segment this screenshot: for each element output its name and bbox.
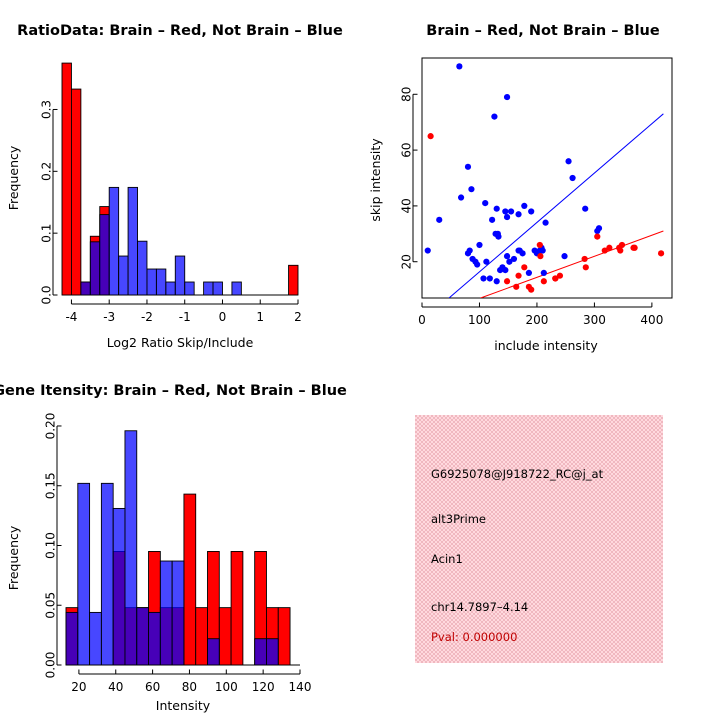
hist-bar xyxy=(175,256,184,295)
hist-bar xyxy=(100,215,109,295)
scatter-point xyxy=(528,287,534,293)
x-axis-tick-label: 100 xyxy=(215,680,238,694)
scatter-point xyxy=(521,264,527,270)
scatter-point xyxy=(494,206,500,212)
scatter-point xyxy=(617,247,623,253)
scatter-point xyxy=(658,250,664,256)
scatter-point xyxy=(542,220,548,226)
hist-bar xyxy=(289,265,298,295)
scatter-panel: Brain – Red, Not Brain – Blue include in… xyxy=(360,0,720,360)
hist-bar xyxy=(278,608,290,665)
y-axis-tick-label: 0.2 xyxy=(40,162,54,181)
hist-bar xyxy=(125,431,137,665)
y-axis-tick-label: 0.3 xyxy=(40,100,54,119)
scatter-point xyxy=(519,250,525,256)
scatter-point xyxy=(537,242,543,248)
scatter-point xyxy=(436,217,442,223)
x-axis-tick-label: -2 xyxy=(141,310,153,324)
gene-histogram-xlabel: Intensity xyxy=(156,698,211,713)
hist-bar xyxy=(184,494,196,665)
scatter-plot-area: 010020030040020406080 xyxy=(400,58,673,327)
y-axis-tick-label: 60 xyxy=(400,142,414,157)
y-axis-tick-label: 0.05 xyxy=(44,592,58,619)
x-axis-tick-label: 2 xyxy=(294,310,302,324)
hist-bar xyxy=(138,241,147,295)
gene-histogram-svg: Gene Itensity: Brain – Red, Not Brain – … xyxy=(0,360,360,720)
hist-bar xyxy=(166,282,175,295)
x-axis-tick-label: 200 xyxy=(525,313,548,327)
hist-bar xyxy=(231,551,243,665)
hist-bar xyxy=(213,282,222,295)
figure-canvas: RatioData: Brain – Red, Not Brain – Blue… xyxy=(0,0,720,720)
ratio-histogram-panel: RatioData: Brain – Red, Not Brain – Blue… xyxy=(0,0,360,360)
scatter-point xyxy=(491,114,497,120)
scatter-point xyxy=(561,253,567,259)
y-axis-tick-label: 0.10 xyxy=(44,532,58,559)
hist-bar xyxy=(204,282,213,295)
ratio-histogram-xlabel: Log2 Ratio Skip/Include xyxy=(107,335,254,350)
scatter-point xyxy=(504,278,510,284)
y-axis-tick-label: 0.0 xyxy=(40,285,54,304)
genomic-location-text: chr14.7897–4.14 xyxy=(431,600,528,614)
scatter-points-group xyxy=(425,63,665,298)
hist-bar xyxy=(128,187,137,295)
scatter-point xyxy=(515,273,521,279)
y-axis-tick-label: 0.20 xyxy=(44,413,58,440)
x-axis-tick-label: 300 xyxy=(583,313,606,327)
scatter-point xyxy=(495,234,501,240)
x-axis-tick-label: 20 xyxy=(71,680,86,694)
scatter-point xyxy=(458,194,464,200)
x-axis-tick-label: 100 xyxy=(468,313,491,327)
hist-bar xyxy=(156,269,165,295)
scatter-point xyxy=(537,253,543,259)
probe-id-text: G6925078@J918722_RC@j_at xyxy=(431,467,603,481)
scatter-point xyxy=(582,256,588,262)
scatter-point xyxy=(504,253,510,259)
scatter-point xyxy=(619,242,625,248)
scatter-point xyxy=(515,211,521,217)
y-axis-tick-label: 0.00 xyxy=(44,652,58,679)
event-type-text: alt3Prime xyxy=(431,512,486,526)
scatter-point xyxy=(540,247,546,253)
hist-bar xyxy=(232,282,241,295)
hist-bar xyxy=(160,561,172,665)
hist-bar xyxy=(90,242,99,295)
hist-bar xyxy=(147,269,156,295)
scatter-point xyxy=(504,94,510,100)
scatter-point xyxy=(494,278,500,284)
x-axis-tick-label: 1 xyxy=(256,310,264,324)
scatter-point xyxy=(508,208,514,214)
hist-bar xyxy=(208,639,220,665)
scatter-plot-box xyxy=(422,58,672,298)
x-axis-tick-label: 80 xyxy=(182,680,197,694)
hist-bar xyxy=(149,612,161,665)
x-axis-tick-label: -4 xyxy=(65,310,77,324)
scatter-point xyxy=(511,256,517,262)
scatter-point xyxy=(526,270,532,276)
hist-bar xyxy=(78,483,90,665)
x-axis-tick-label: 400 xyxy=(640,313,663,327)
scatter-point xyxy=(565,158,571,164)
hist-bar xyxy=(185,282,194,295)
x-axis-tick-label: 40 xyxy=(108,680,123,694)
scatter-point xyxy=(483,259,489,265)
hist-bar xyxy=(66,612,78,665)
hist-bar xyxy=(81,282,90,295)
gene-histogram-title: Gene Itensity: Brain – Red, Not Brain – … xyxy=(0,383,347,399)
scatter-point xyxy=(541,270,547,276)
x-axis-tick-label: -1 xyxy=(179,310,191,324)
y-axis-tick-label: 0.15 xyxy=(44,472,58,499)
y-axis-tick-label: 40 xyxy=(400,198,414,213)
hist-bar xyxy=(113,508,125,665)
scatter-point xyxy=(480,275,486,281)
hist-bar xyxy=(101,483,113,665)
hist-bar xyxy=(90,612,102,665)
scatter-point xyxy=(552,275,558,281)
scatter-point xyxy=(596,225,602,231)
hist-bar xyxy=(119,256,128,295)
scatter-point xyxy=(594,234,600,240)
hist-bar xyxy=(137,608,149,665)
gene-histogram-ylabel: Frequency xyxy=(6,525,21,590)
x-axis-tick-label: -3 xyxy=(103,310,115,324)
hist-bar xyxy=(196,608,208,665)
gene-histogram-plot-area: 204060801001201400.000.050.100.150.20 xyxy=(44,413,312,694)
y-axis-tick-label: 20 xyxy=(400,254,414,269)
ratio-histogram-svg: RatioData: Brain – Red, Not Brain – Blue… xyxy=(0,0,360,360)
scatter-point xyxy=(456,63,462,69)
gene-histogram-panel: Gene Itensity: Brain – Red, Not Brain – … xyxy=(0,360,360,720)
hist-bar xyxy=(219,608,231,665)
scatter-point xyxy=(476,242,482,248)
scatter-point xyxy=(606,245,612,251)
hist-bar xyxy=(62,63,71,295)
scatter-ylabel: skip intensity xyxy=(368,138,383,222)
scatter-point xyxy=(569,175,575,181)
scatter-point xyxy=(582,206,588,212)
hist-bar xyxy=(109,187,118,295)
ratio-histogram-plot-area: -4-3-2-10120.00.10.20.3 xyxy=(40,63,302,324)
scatter-point xyxy=(428,133,434,139)
scatter-point xyxy=(468,186,474,192)
x-axis-tick-label: 120 xyxy=(252,680,275,694)
scatter-point xyxy=(487,275,493,281)
y-axis-tick-label: 80 xyxy=(400,87,414,102)
scatter-title: Brain – Red, Not Brain – Blue xyxy=(426,23,660,39)
scatter-xlabel: include intensity xyxy=(494,338,598,353)
scatter-point xyxy=(632,245,638,251)
hist-bar xyxy=(71,89,80,295)
scatter-point xyxy=(465,250,471,256)
ratio-histogram-ylabel: Frequency xyxy=(6,145,21,210)
scatter-point xyxy=(521,203,527,209)
gene-info-panel: G6925078@J918722_RC@j_at alt3Prime Acin1… xyxy=(415,415,663,663)
scatter-point xyxy=(425,247,431,253)
scatter-point xyxy=(502,267,508,273)
scatter-point xyxy=(482,200,488,206)
hist-bar xyxy=(172,561,184,665)
hist-bar xyxy=(266,639,278,665)
pval-text: Pval: 0.000000 xyxy=(431,630,517,644)
scatter-point xyxy=(504,214,510,220)
x-axis-tick-label: 140 xyxy=(289,680,312,694)
gene-name-text: Acin1 xyxy=(431,552,463,566)
scatter-point xyxy=(513,284,519,290)
scatter-point xyxy=(528,208,534,214)
scatter-svg: Brain – Red, Not Brain – Blue include in… xyxy=(360,0,720,360)
x-axis-tick-label: 0 xyxy=(219,310,227,324)
scatter-point xyxy=(465,164,471,170)
y-axis-tick-label: 0.1 xyxy=(40,224,54,243)
x-axis-tick-label: 0 xyxy=(418,313,426,327)
scatter-point xyxy=(541,278,547,284)
scatter-point xyxy=(472,259,478,265)
scatter-point xyxy=(489,217,495,223)
x-axis-tick-label: 60 xyxy=(145,680,160,694)
scatter-point xyxy=(502,208,508,214)
ratio-histogram-title: RatioData: Brain – Red, Not Brain – Blue xyxy=(17,23,343,39)
hist-bar xyxy=(255,639,267,665)
scatter-point xyxy=(583,264,589,270)
